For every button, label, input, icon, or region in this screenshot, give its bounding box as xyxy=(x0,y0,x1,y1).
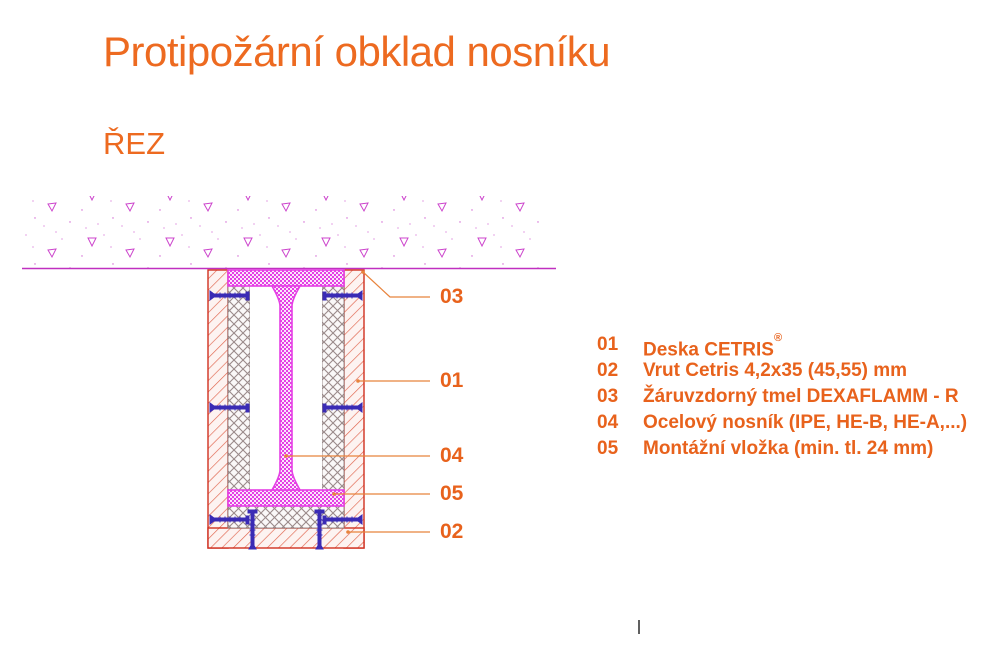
technical-drawing xyxy=(0,0,1000,652)
legend-number: 04 xyxy=(597,411,643,435)
legend-item-03: 03 Žáruvzdorný tmel DEXAFLAMM - R xyxy=(597,385,967,411)
legend-text: Deska CETRIS® xyxy=(643,333,782,362)
legend-number: 02 xyxy=(597,359,643,383)
legend-text: Vrut Cetris 4,2x35 (45,55) mm xyxy=(643,359,907,383)
legend-item-01: 01 Deska CETRIS® xyxy=(597,333,967,359)
legend-number: 03 xyxy=(597,385,643,409)
legend: 01 Deska CETRIS® 02 Vrut Cetris 4,2x35 (… xyxy=(597,333,967,463)
callout-01: 01 xyxy=(440,370,463,391)
callout-05: 05 xyxy=(440,483,463,504)
callout-02: 02 xyxy=(440,521,463,542)
legend-item-04: 04 Ocelový nosník (IPE, HE-B, HE-A,...) xyxy=(597,411,967,437)
legend-text: Ocelový nosník (IPE, HE-B, HE-A,...) xyxy=(643,411,967,435)
legend-number: 01 xyxy=(597,333,643,357)
legend-number: 05 xyxy=(597,437,643,461)
registered-trademark-icon: ® xyxy=(774,332,782,344)
legend-text: Žáruvzdorný tmel DEXAFLAMM - R xyxy=(643,385,959,409)
callout-03: 03 xyxy=(440,286,463,307)
legend-text: Montážní vložka (min. tl. 24 mm) xyxy=(643,437,933,461)
legend-item-02: 02 Vrut Cetris 4,2x35 (45,55) mm xyxy=(597,359,967,385)
callout-04: 04 xyxy=(440,445,463,466)
concrete-slab xyxy=(24,196,544,268)
text-caret xyxy=(638,620,640,634)
slide-canvas: Protipožární obklad nosníku ŘEZ xyxy=(0,0,1000,652)
legend-item-05: 05 Montážní vložka (min. tl. 24 mm) xyxy=(597,437,967,463)
